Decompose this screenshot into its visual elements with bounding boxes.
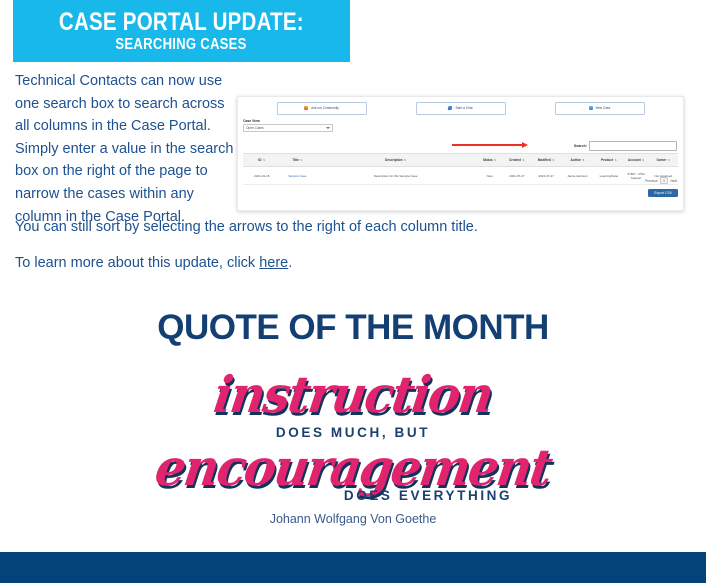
column-header-author[interactable]: Author⇅ xyxy=(561,158,594,162)
here-link[interactable]: here xyxy=(259,255,288,271)
search-input[interactable] xyxy=(589,141,677,151)
column-label-title: Title xyxy=(292,158,299,162)
learn-more-prefix: To learn more about this update, click xyxy=(15,255,259,271)
new-case-label: New Case xyxy=(596,106,611,110)
portal-toolbar: Ask our Community Start a Chat New Case xyxy=(238,101,683,115)
case-portal-update-banner: CASE PORTAL UPDATE: SEARCHING CASES xyxy=(13,0,350,62)
community-icon xyxy=(304,106,308,110)
column-label-product: Product xyxy=(601,158,613,162)
previous-page-button[interactable]: Previous xyxy=(645,179,657,183)
sort-icon[interactable]: ⇅ xyxy=(642,159,644,162)
new-case-button[interactable]: New Case xyxy=(555,102,645,115)
cell-title: Sample Case xyxy=(281,174,314,178)
column-label-created: Created xyxy=(509,158,521,162)
sort-icon[interactable]: ⇅ xyxy=(263,159,265,162)
column-label-owner: Owner xyxy=(657,158,667,162)
column-header-created[interactable]: Created⇅ xyxy=(502,158,531,162)
cell-description: Description for this Sample Case xyxy=(314,174,477,178)
column-header-status[interactable]: Status⇅ xyxy=(477,158,502,162)
chat-icon xyxy=(448,106,453,110)
banner-title: CASE PORTAL UPDATE: xyxy=(59,9,304,36)
search-label: Search: xyxy=(574,144,587,148)
page-number-1[interactable]: 1 xyxy=(660,177,669,184)
sort-icon[interactable]: ⇅ xyxy=(582,159,584,162)
column-header-description[interactable]: Description⇅ xyxy=(314,158,477,162)
search-area: Search: xyxy=(574,141,677,151)
annotation-arrow xyxy=(452,142,532,148)
cell-product: LearningSuite xyxy=(594,174,623,178)
learn-more-suffix: . xyxy=(288,255,292,271)
column-header-product[interactable]: Product⇅ xyxy=(594,158,623,162)
quote-script-line-1: instruction xyxy=(0,366,706,425)
next-page-button[interactable]: Next xyxy=(670,179,677,183)
cell-modified: 2021-07-27 xyxy=(531,174,560,178)
column-header-account[interactable]: Account⇅ xyxy=(624,158,649,162)
case-portal-canvas: Ask our Community Start a Chat New Case … xyxy=(238,97,683,210)
ask-our-community-label: Ask our Community xyxy=(311,106,339,110)
sorting-paragraph: You can still sort by selecting the arro… xyxy=(15,216,535,239)
case-view-value: Open Cases xyxy=(246,126,264,130)
chevron-down-icon xyxy=(326,127,330,129)
case-title-link[interactable]: Sample Case xyxy=(288,174,306,178)
column-label-author: Author xyxy=(570,158,580,162)
sort-icon[interactable]: ⇅ xyxy=(494,159,496,162)
cases-table: ID⇅ Title⇅ Description⇅ Status⇅ Created⇅… xyxy=(243,153,678,185)
export-csv-button[interactable]: Export CSV xyxy=(648,189,678,197)
arrow-head-icon xyxy=(522,142,528,148)
column-label-description: Description xyxy=(385,158,403,162)
quote-author: Johann Wolfgang Von Goethe xyxy=(0,512,706,526)
cell-created: 2021-07-27 xyxy=(502,174,531,178)
start-a-chat-label: Start a Chat xyxy=(455,106,472,110)
case-view-select[interactable]: Open Cases xyxy=(243,124,333,132)
banner-subtitle: SEARCHING CASES xyxy=(116,36,247,54)
column-label-account: Account xyxy=(628,158,641,162)
cell-id: 2021-01-15 xyxy=(243,174,281,178)
sort-icon[interactable]: ⇅ xyxy=(522,159,524,162)
column-label-status: Status xyxy=(483,158,493,162)
column-label-id: ID xyxy=(258,158,261,162)
pagination: Previous 1 Next xyxy=(645,177,677,184)
sort-icon[interactable]: ⇅ xyxy=(668,159,670,162)
column-header-title[interactable]: Title⇅ xyxy=(281,158,314,162)
cases-table-header: ID⇅ Title⇅ Description⇅ Status⇅ Created⇅… xyxy=(243,153,678,167)
quote-caps-line-2: DOES EVERYTHING xyxy=(0,488,706,503)
sort-icon[interactable]: ⇅ xyxy=(404,159,406,162)
case-view-label: Case View xyxy=(243,119,260,123)
new-case-icon xyxy=(589,106,593,110)
table-row[interactable]: 2021-01-15 Sample Case Description for t… xyxy=(243,167,678,185)
cell-author: Jamie Harrison xyxy=(561,174,594,178)
sort-icon[interactable]: ⇅ xyxy=(552,159,554,162)
intro-paragraph: Technical Contacts can now use one searc… xyxy=(15,70,243,228)
sort-icon[interactable]: ⇅ xyxy=(300,159,302,162)
arrow-line xyxy=(452,144,524,146)
column-label-modified: Modified xyxy=(538,158,551,162)
cell-status: New xyxy=(477,174,502,178)
sort-icon[interactable]: ⇅ xyxy=(615,159,617,162)
footer-bar xyxy=(0,552,706,583)
ask-our-community-button[interactable]: Ask our Community xyxy=(277,102,367,115)
start-a-chat-button[interactable]: Start a Chat xyxy=(416,102,506,115)
quote-of-the-month-heading: QUOTE OF THE MONTH xyxy=(0,308,706,348)
learn-more-paragraph: To learn more about this update, click h… xyxy=(15,252,535,275)
case-portal-screenshot: Ask our Community Start a Chat New Case … xyxy=(237,96,684,211)
column-header-owner[interactable]: Owner⇅ xyxy=(649,158,678,162)
column-header-id[interactable]: ID⇅ xyxy=(243,158,281,162)
column-header-modified[interactable]: Modified⇅ xyxy=(531,158,560,162)
